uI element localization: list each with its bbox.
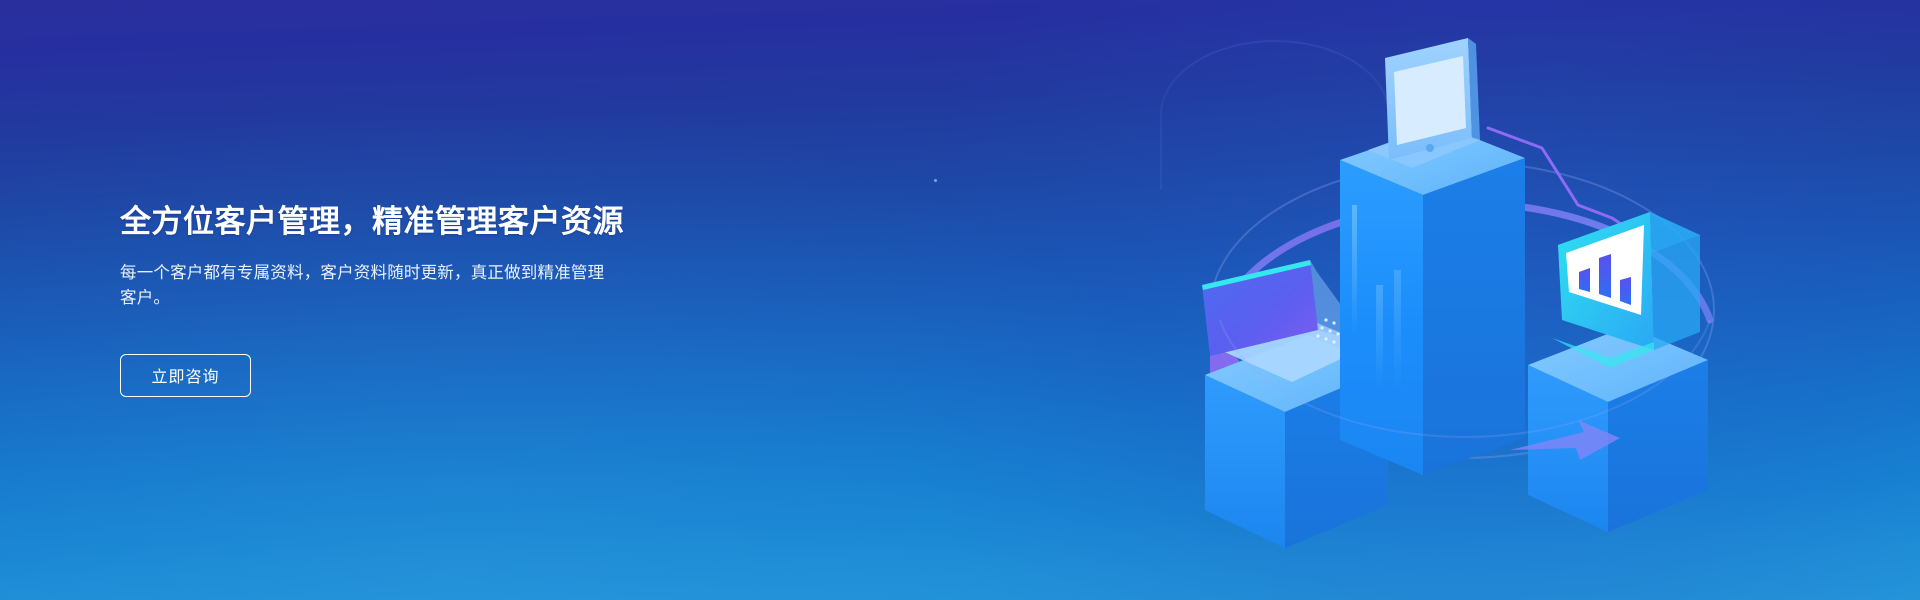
mini-bar-3	[1620, 277, 1631, 305]
tablet-home-button	[1426, 144, 1434, 152]
glow-stripe-3	[1394, 270, 1401, 390]
glow-stripe-1	[1352, 205, 1357, 335]
glow-stripe-2	[1376, 285, 1383, 390]
mini-bar-1	[1579, 268, 1590, 292]
consult-now-button[interactable]: 立即咨询	[120, 354, 251, 397]
mini-bar-2	[1599, 254, 1611, 298]
sparkle-dot	[934, 179, 937, 182]
hero-illustration	[1180, 20, 1740, 580]
hero-description: 每一个客户都有专属资料，客户资料随时更新，真正做到精准管理客户。	[120, 261, 610, 312]
hero-content: 全方位客户管理，精准管理客户资源 每一个客户都有专属资料，客户资料随时更新，真正…	[120, 0, 740, 600]
page-title: 全方位客户管理，精准管理客户资源	[120, 203, 624, 242]
center-pedestal	[1340, 125, 1525, 475]
hero-banner: 全方位客户管理，精准管理客户资源 每一个客户都有专属资料，客户资料随时更新，真正…	[0, 0, 1920, 600]
